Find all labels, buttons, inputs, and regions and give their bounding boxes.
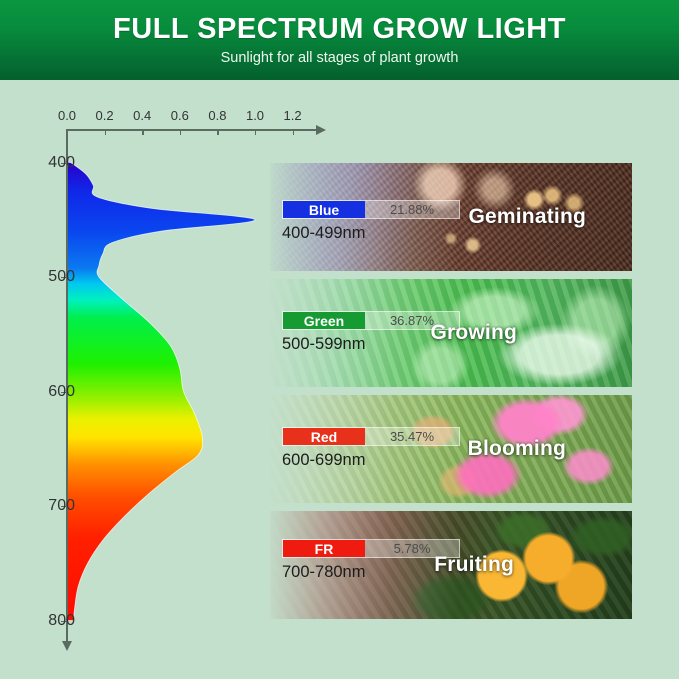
x-tick (255, 129, 256, 135)
y-tick-label: 400 (48, 155, 75, 171)
x-tick (217, 129, 218, 135)
x-axis-arrow-icon (316, 125, 326, 135)
legend-range-blue: 400-499nm (282, 225, 460, 242)
x-tick (67, 129, 68, 135)
stage-label-blooming: Blooming (468, 437, 566, 461)
legend-percent-red: 35.47% (365, 428, 459, 445)
x-tick-label: 0.2 (96, 109, 114, 122)
y-tick-label: 500 (48, 269, 75, 285)
legend-green[interactable]: Green 36.87% 500-599nm (282, 311, 460, 352)
legend-percent-green: 36.87% (365, 312, 459, 329)
legend-percent-fr: 5.78% (365, 540, 459, 557)
legend-range-red: 600-699nm (282, 452, 460, 469)
infographic-root: FULL SPECTRUM GROW LIGHT Sunlight for al… (0, 0, 679, 679)
y-axis-arrow-icon (62, 641, 72, 651)
x-tick-label: 0.6 (171, 109, 189, 122)
legend-chip-green: Green (283, 312, 365, 329)
legend-far-red[interactable]: FR 5.78% 700-780nm (282, 539, 460, 580)
legend-chip-blue: Blue (283, 201, 365, 218)
y-tick-label: 800 (48, 613, 75, 629)
stage-label-germinating: Geminating (468, 205, 586, 229)
x-tick-label: 1.0 (246, 109, 264, 122)
legend-range-green: 500-599nm (282, 336, 460, 353)
legend-red[interactable]: Red 35.47% 600-699nm (282, 427, 460, 468)
x-tick-label: 0.8 (208, 109, 226, 122)
x-tick (293, 129, 294, 135)
x-tick-label: 0.4 (133, 109, 151, 122)
x-tick-label: 1.2 (284, 109, 302, 122)
legend-row: Green 36.87% (282, 311, 460, 330)
y-tick-label: 600 (48, 384, 75, 400)
legend-chip-red: Red (283, 428, 365, 445)
x-tick (105, 129, 106, 135)
legend-row: Blue 21.88% (282, 200, 460, 219)
legend-row: FR 5.78% (282, 539, 460, 558)
legend-row: Red 35.47% (282, 427, 460, 446)
legend-percent-blue: 21.88% (365, 201, 459, 218)
header-banner: FULL SPECTRUM GROW LIGHT Sunlight for al… (0, 0, 679, 80)
x-tick (142, 129, 143, 135)
x-tick-label: 0.0 (58, 109, 76, 122)
page-subtitle: Sunlight for all stages of plant growth (221, 51, 459, 66)
page-title: FULL SPECTRUM GROW LIGHT (113, 15, 566, 44)
legend-range-fr: 700-780nm (282, 564, 460, 581)
legend-chip-fr: FR (283, 540, 365, 557)
y-tick-label: 700 (48, 498, 75, 514)
x-tick (180, 129, 181, 135)
legend-blue[interactable]: Blue 21.88% 400-499nm (282, 200, 460, 241)
